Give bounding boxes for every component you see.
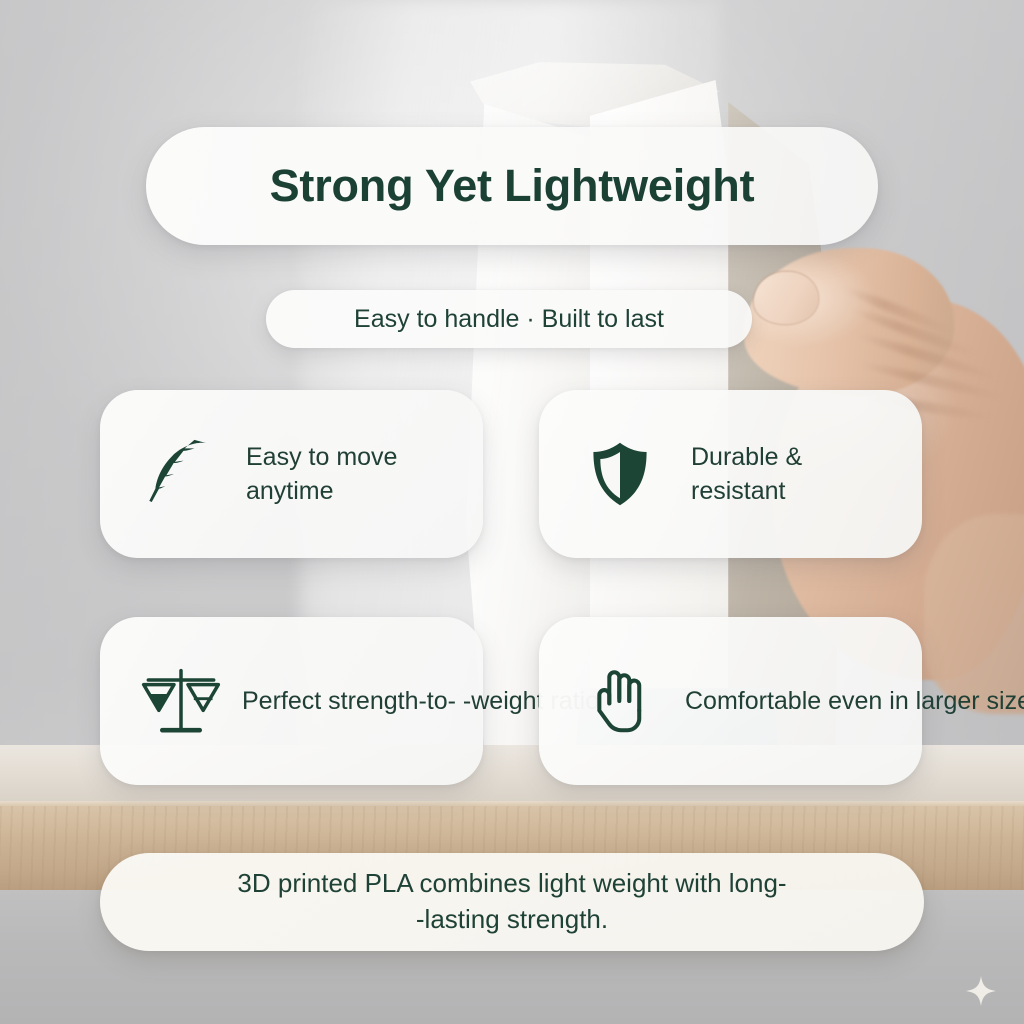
content-overlay: Strong Yet Lightweight Easy to handle · … (0, 0, 1024, 1024)
feature-label: Comfortable even in larger sizes (685, 684, 1024, 719)
feather-icon (138, 431, 224, 517)
feature-card-durable-resistant[interactable]: Durable & resistant (539, 390, 922, 558)
caption-pill: 3D printed PLA combines light weight wit… (100, 853, 924, 951)
caption-text: 3D printed PLA combines light weight wit… (237, 866, 786, 938)
feature-label: Easy to move anytime (246, 440, 461, 509)
hero-subtitle-pill: Easy to handle · Built to last (266, 290, 752, 348)
page-subtitle: Easy to handle · Built to last (354, 305, 664, 334)
feature-label: Durable & resistant (691, 440, 900, 509)
sparkle-icon (965, 975, 997, 1007)
feature-card-easy-to-move[interactable]: Easy to move anytime (100, 390, 483, 558)
feature-card-comfortable[interactable]: Comfortable even in larger sizes (539, 617, 922, 785)
open-hand-icon (577, 658, 663, 744)
balance-scale-icon (138, 658, 224, 744)
hero-title-pill: Strong Yet Lightweight (146, 127, 878, 245)
page-title: Strong Yet Lightweight (270, 160, 755, 212)
feature-card-strength-to-weight[interactable]: Perfect strength-to- -weight ratio (100, 617, 483, 785)
shield-icon (577, 431, 663, 517)
